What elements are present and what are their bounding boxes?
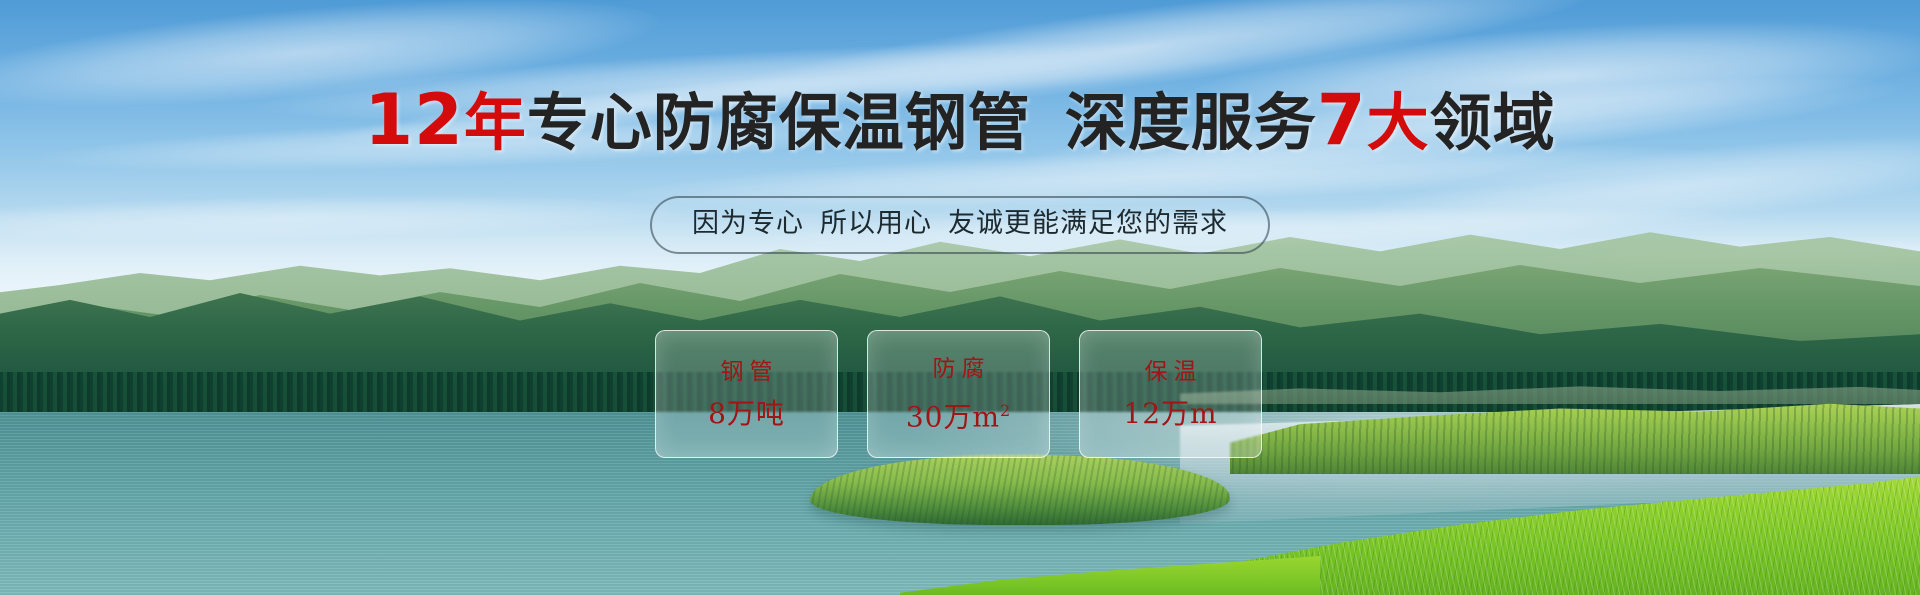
- headline-main-text: 专心防腐保温钢管: [527, 86, 1031, 159]
- headline-fields-number: 7: [1317, 79, 1367, 161]
- hero-banner: 12年专心防腐保温钢管深度服务7大领域 因为专心所以用心友诚更能满足您的需求 钢…: [0, 0, 1920, 595]
- subtitle-pill: 因为专心所以用心友诚更能满足您的需求: [650, 196, 1270, 254]
- stat-value: 8万吨: [708, 399, 785, 429]
- stat-card-group: 钢管 8万吨 防腐 30万m2 保温 12万m: [655, 330, 1262, 458]
- stat-label: 保温: [1139, 359, 1203, 385]
- subtitle-part-1: 因为专心: [692, 208, 804, 239]
- stat-value-text: 30万m: [906, 400, 1000, 433]
- stat-card-steel-pipe: 钢管 8万吨: [655, 330, 838, 458]
- headline-fields-unit: 大: [1367, 86, 1430, 159]
- headline-service-text: 深度服务: [1065, 86, 1317, 159]
- stat-card-insulation: 保温 12万m: [1079, 330, 1262, 458]
- stat-value-text: 8万吨: [708, 397, 785, 430]
- headline-fields-text: 领域: [1430, 86, 1556, 159]
- headline-years-unit: 年: [464, 86, 527, 159]
- banner-content: 12年专心防腐保温钢管深度服务7大领域 因为专心所以用心友诚更能满足您的需求 钢…: [0, 0, 1920, 595]
- stat-card-anticorrosion: 防腐 30万m2: [867, 330, 1050, 458]
- subtitle-part-2: 所以用心: [820, 208, 932, 239]
- headline-years-number: 12: [364, 79, 463, 161]
- stat-value: 30万m2: [906, 396, 1011, 432]
- subtitle-container: 因为专心所以用心友诚更能满足您的需求: [0, 196, 1920, 254]
- stat-value: 12万m: [1123, 399, 1217, 429]
- stat-value-text: 12万m: [1123, 397, 1217, 430]
- stat-label: 钢管: [715, 359, 779, 385]
- subtitle-part-3: 友诚更能满足您的需求: [948, 208, 1228, 239]
- stat-label: 防腐: [927, 356, 991, 382]
- stat-value-superscript: 2: [1000, 401, 1011, 420]
- page-title: 12年专心防腐保温钢管深度服务7大领域: [0, 86, 1920, 157]
